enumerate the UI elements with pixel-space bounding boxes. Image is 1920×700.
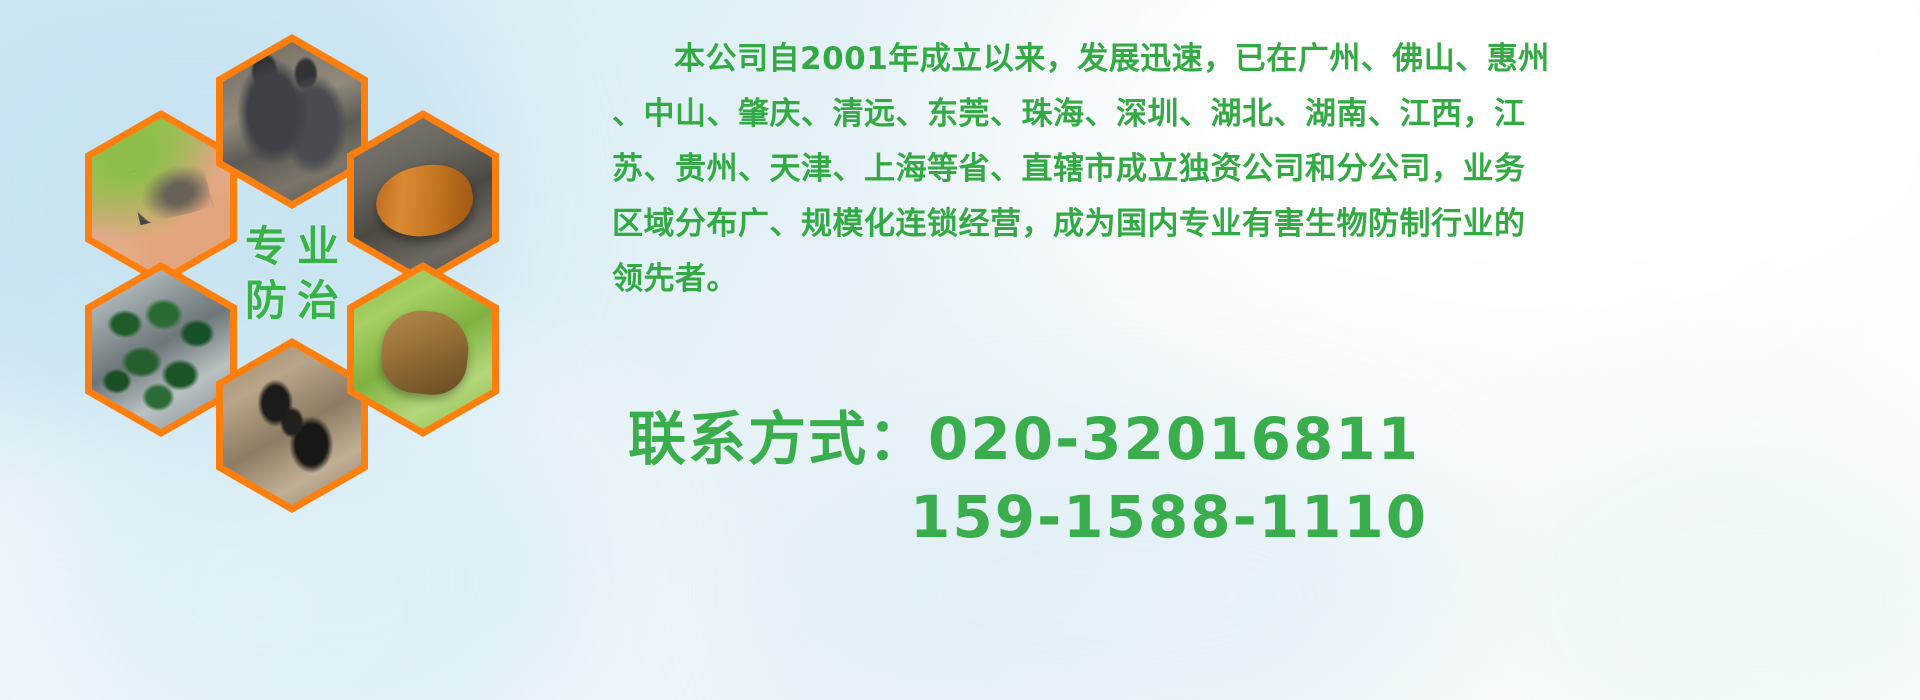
hex-cell-flies bbox=[85, 262, 237, 437]
hex-photo-flies bbox=[92, 270, 230, 429]
company-intro: 本公司自2001年成立以来，发展迅速，已在广州、佛山、惠州 、中山、肇庆、清远、… bbox=[612, 32, 1912, 307]
rat-icon bbox=[223, 42, 361, 201]
hex-photo-ant bbox=[223, 346, 361, 505]
hex-cell-ant bbox=[216, 338, 368, 513]
hex-photo-stinkbug bbox=[354, 270, 492, 429]
hex-cell-cockroach bbox=[347, 110, 499, 285]
promo-banner: 专业 防治 本公司自2001年成立以来，发展迅速，已在广州、佛山、惠州 、中山、… bbox=[0, 0, 1920, 700]
intro-line: 苏、贵州、天津、上海等省、直辖市成立独资公司和分公司，业务 bbox=[612, 142, 1912, 197]
intro-line: 领先者。 bbox=[612, 252, 1912, 307]
stinkbug-icon bbox=[354, 270, 492, 429]
hex-photo-rats bbox=[223, 42, 361, 201]
intro-line: 、中山、肇庆、清远、东莞、珠海、深圳、湖北、湖南、江西，江 bbox=[612, 87, 1912, 142]
contact-phone-landline[interactable]: 联系方式：020-32016811 bbox=[628, 400, 1918, 478]
hex-photo-mosquito bbox=[92, 118, 230, 277]
ant-icon bbox=[223, 346, 361, 505]
hex-photo-cockroach bbox=[354, 118, 492, 277]
badge-professional-control: 专业 防治 bbox=[216, 186, 368, 361]
contact-block: 联系方式：020-32016811 159-1588-1110 bbox=[628, 400, 1918, 556]
hex-cell-stinkbug bbox=[347, 262, 499, 437]
intro-line: 本公司自2001年成立以来，发展迅速，已在广州、佛山、惠州 bbox=[612, 32, 1912, 87]
intro-line: 区域分布广、规模化连锁经营，成为国内专业有害生物防制行业的 bbox=[612, 197, 1912, 252]
hex-cell-rats bbox=[216, 34, 368, 209]
fly-icon bbox=[92, 270, 230, 429]
badge-line-2: 防治 bbox=[235, 274, 349, 328]
contact-phone-mobile[interactable]: 159-1588-1110 bbox=[628, 478, 1918, 556]
honeycomb-collage: 专业 防治 bbox=[85, 18, 585, 578]
cockroach-icon bbox=[354, 118, 492, 277]
mosquito-icon bbox=[92, 118, 230, 277]
hex-cell-mosquito bbox=[85, 110, 237, 285]
badge-line-1: 专业 bbox=[235, 220, 349, 274]
